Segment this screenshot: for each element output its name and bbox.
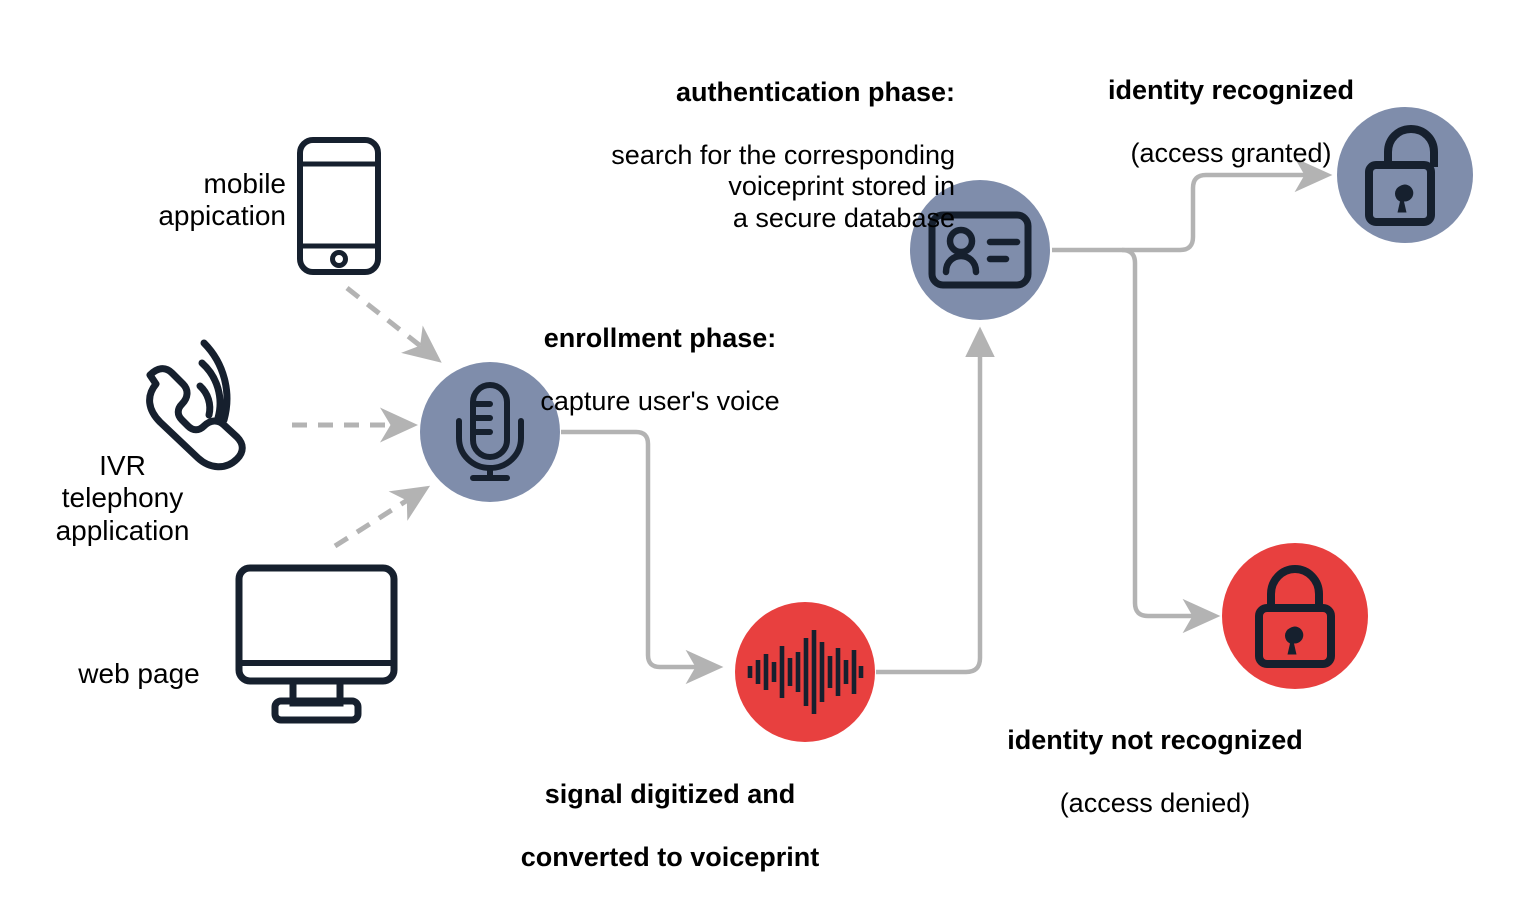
caption-authentication-title: authentication phase: (500, 77, 955, 108)
caption-enrollment-body: capture user's voice (470, 386, 850, 417)
caption-voiceprint: signal digitized and converted to voicep… (470, 748, 870, 905)
audio-waveform-icon (746, 626, 864, 718)
label-ivr-telephony-application: IVR telephony application (0, 450, 245, 547)
caption-voiceprint-line1: signal digitized and (470, 779, 870, 810)
connector-web-to-enrollment (335, 489, 425, 546)
connector-enrollment-to-voiceprint (561, 432, 718, 667)
connector-authentication-to-denied (1122, 250, 1215, 616)
smartphone-icon (296, 136, 382, 276)
node-voiceprint-circle[interactable] (735, 602, 875, 742)
caption-denied-body: (access denied) (960, 788, 1350, 819)
caption-granted-body: (access granted) (1065, 138, 1397, 169)
label-mobile-application: mobile appication (46, 168, 286, 233)
caption-voiceprint-line2: converted to voiceprint (470, 842, 870, 873)
caption-granted-title: identity recognized (1065, 75, 1397, 106)
caption-access-denied: identity not recognized (access denied) (960, 694, 1350, 851)
diagram-canvas: mobile appication IVR telephony applicat… (0, 0, 1536, 864)
caption-enrollment-title: enrollment phase: (470, 323, 850, 354)
node-access-denied-circle[interactable] (1222, 543, 1368, 689)
caption-denied-title: identity not recognized (960, 725, 1350, 756)
connector-voiceprint-to-authentication (876, 332, 980, 672)
caption-enrollment-phase: enrollment phase: capture user's voice (470, 292, 850, 449)
desktop-monitor-icon (234, 563, 399, 725)
caption-authentication-body: search for the corresponding voiceprint … (500, 140, 955, 234)
caption-access-granted: identity recognized (access granted) (1065, 44, 1397, 201)
connector-mobile-to-enrollment (347, 288, 437, 359)
label-web-page: web page (20, 658, 258, 690)
padlock-closed-icon (1250, 563, 1340, 669)
caption-authentication-phase: authentication phase: search for the cor… (500, 46, 955, 265)
